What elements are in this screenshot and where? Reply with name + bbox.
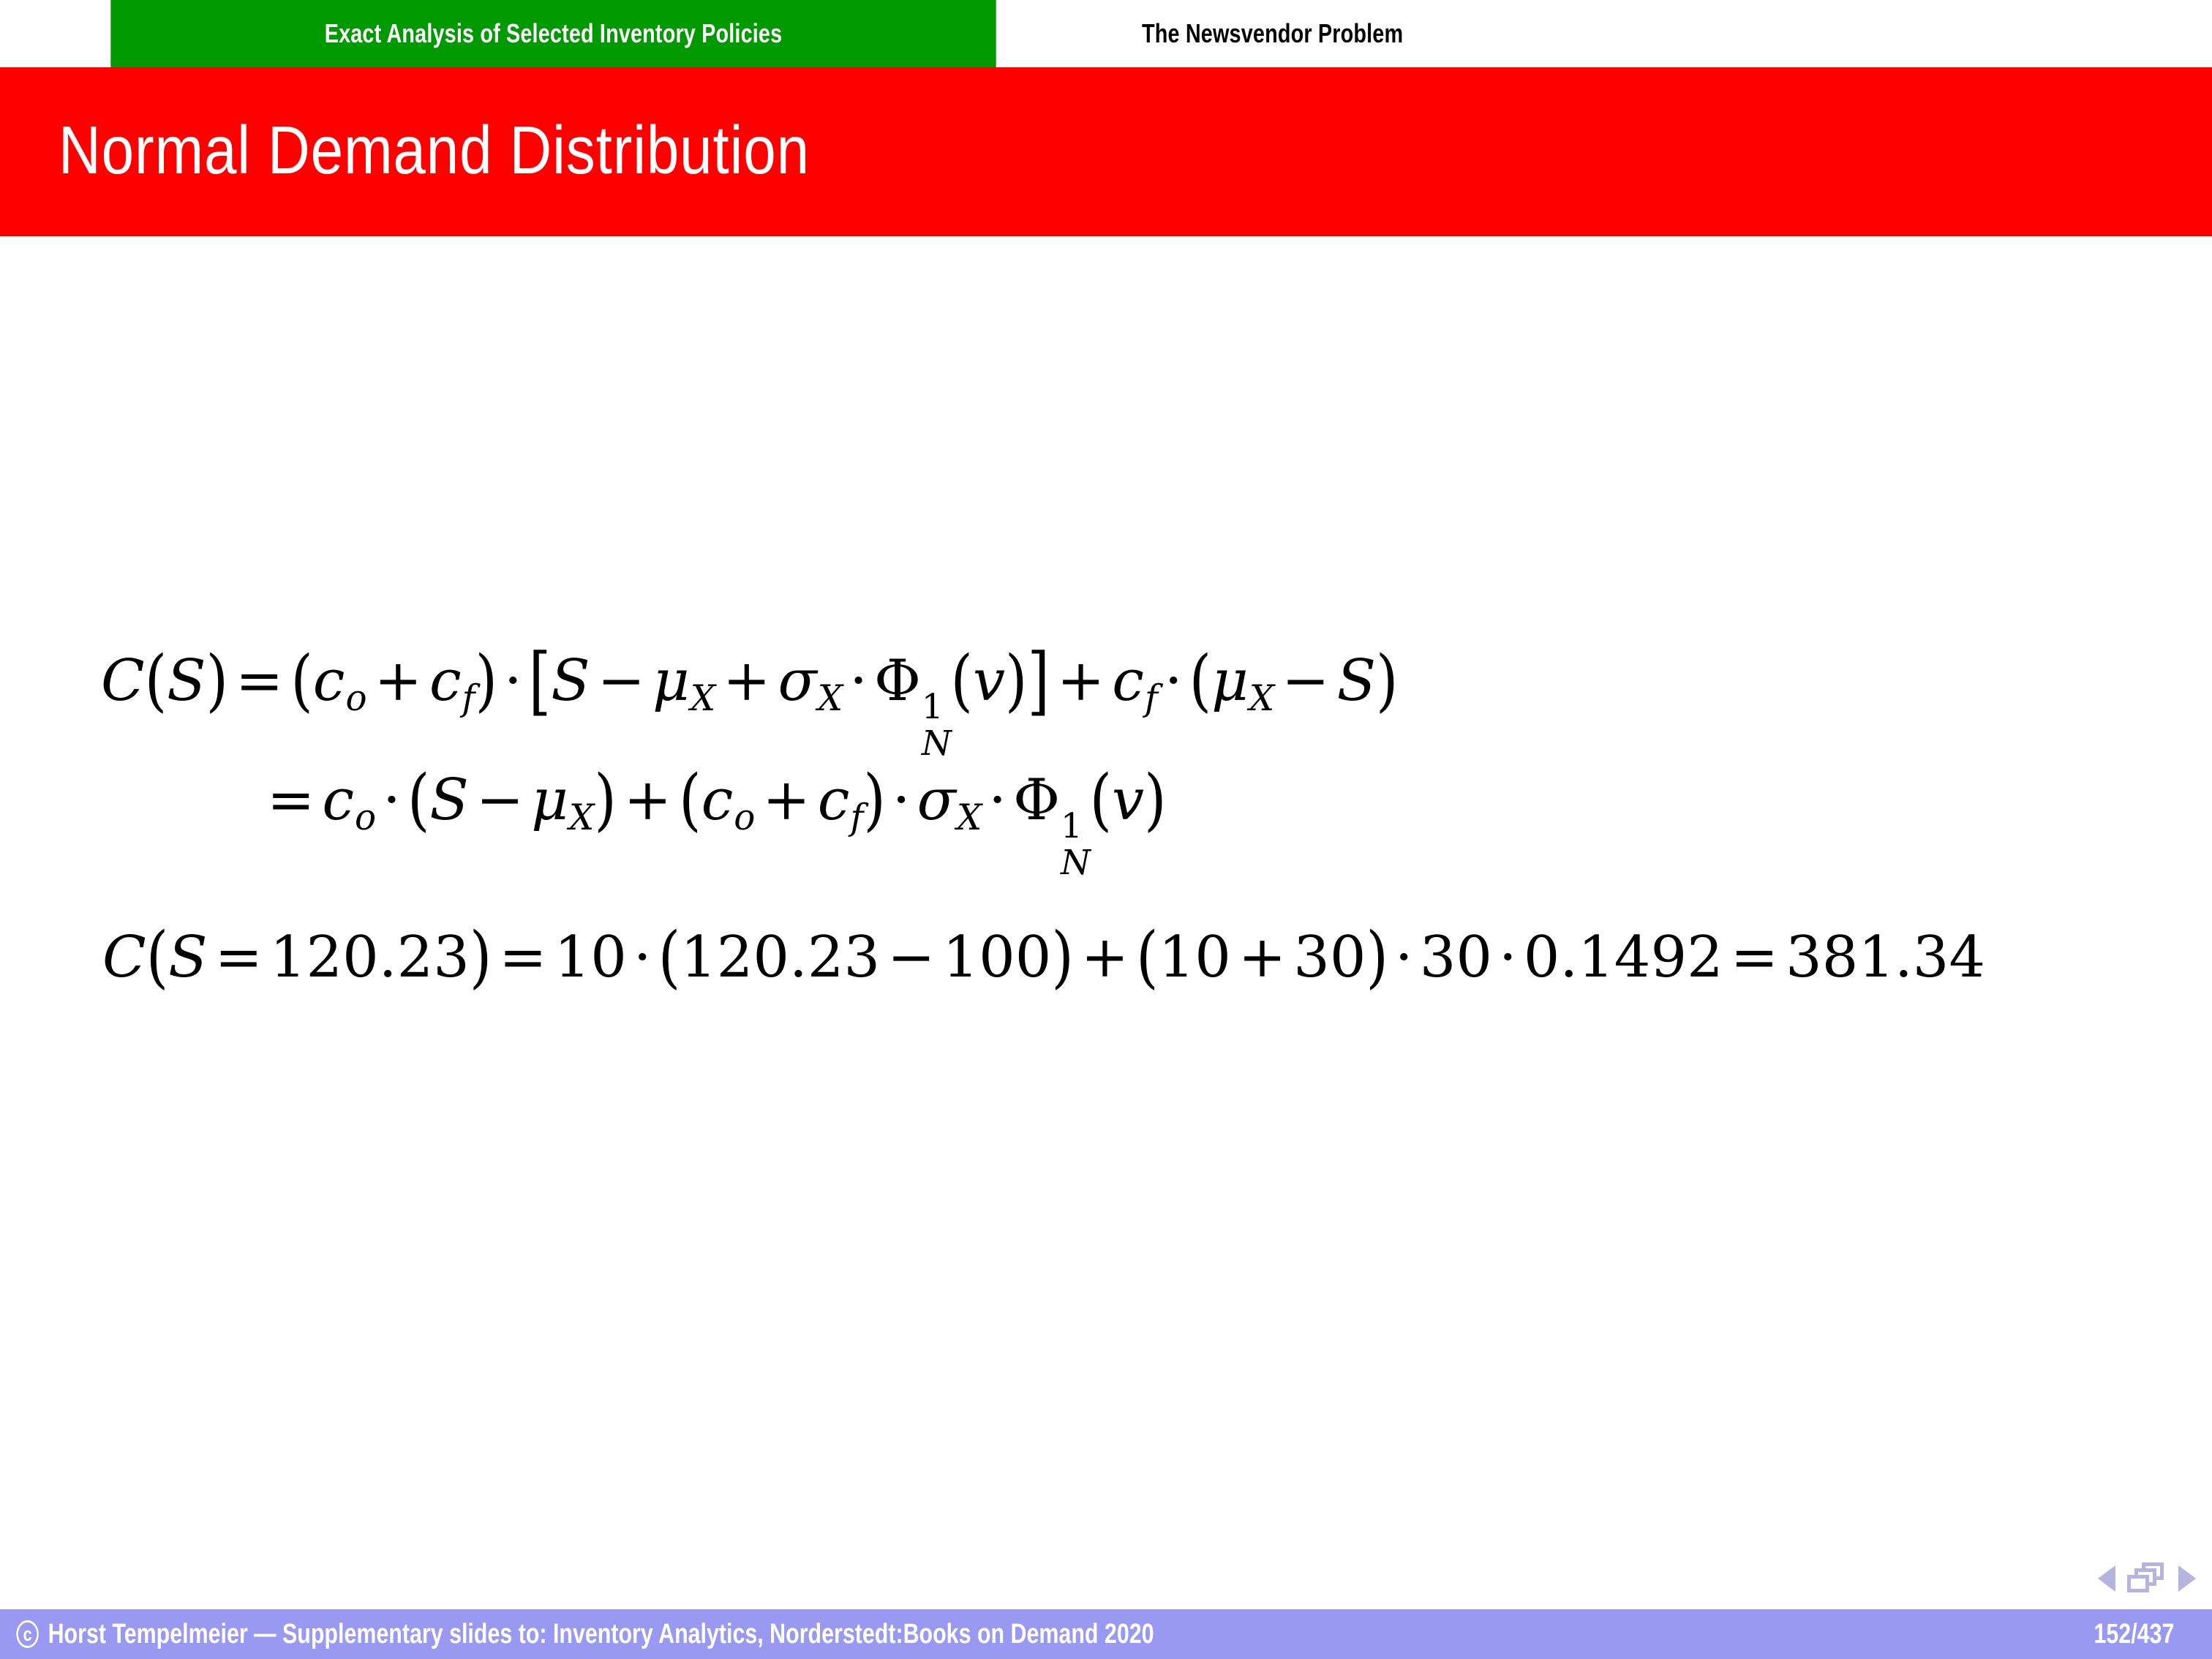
equation-line-3-numeric: C(S=120.23)=10·(120.23−100)+(10+30)·30·0… (102, 924, 1985, 991)
value-co: 10 (554, 925, 627, 990)
value-expected-cost: 381.34 (1786, 925, 1985, 990)
footer-credit: c Horst Tempelmeier — Supplementary slid… (0, 1619, 1154, 1650)
value-S: 120.23 (680, 925, 880, 990)
value-order-up-to-level: 120.23 (270, 925, 470, 990)
previous-slide-icon[interactable] (2098, 1565, 2115, 1592)
value-sigma-x: 30 (1420, 925, 1492, 990)
header-section-exact-analysis[interactable]: Exact Analysis of Selected Inventory Pol… (110, 0, 996, 67)
slide-navigation-controls (2098, 1562, 2196, 1595)
header-section-newsvendor-problem[interactable]: The Newsvendor Problem (1107, 0, 1991, 67)
slide-overview-icon[interactable] (2127, 1562, 2167, 1595)
copyright-icon: c (16, 1620, 38, 1648)
slide-footer: c Horst Tempelmeier — Supplementary slid… (0, 1609, 2212, 1659)
header-section-label: Exact Analysis of Selected Inventory Pol… (325, 18, 783, 49)
footer-credit-text: Horst Tempelmeier — Supplementary slides… (48, 1619, 1154, 1650)
slide-header-nav: Exact Analysis of Selected Inventory Pol… (0, 0, 2212, 67)
slide-content: C(S)=(co+cf)·[S−μX+σX·Φ1N(v)]+cf·(μX−S) … (0, 236, 2212, 1609)
equation-line-2: =co·(S−μX)+(co+cf)·σX·Φ1N(v) (260, 767, 1167, 851)
value-mu-x: 100 (942, 925, 1051, 990)
page-title: Normal Demand Distribution (59, 113, 810, 187)
next-slide-icon[interactable] (2178, 1565, 2196, 1592)
equation-line-1: C(S)=(co+cf)·[S−μX+σX·Φ1N(v)]+cf·(μX−S) (101, 647, 1398, 732)
value-cf: 30 (1293, 925, 1366, 990)
page-number: 152/437 (2093, 1619, 2174, 1650)
value-loss-function: 0.1492 (1524, 925, 1723, 990)
slide-title-banner: Normal Demand Distribution (0, 67, 2212, 236)
header-subsection-label: The Newsvendor Problem (1142, 18, 1403, 49)
value-co-2: 10 (1159, 925, 1231, 990)
